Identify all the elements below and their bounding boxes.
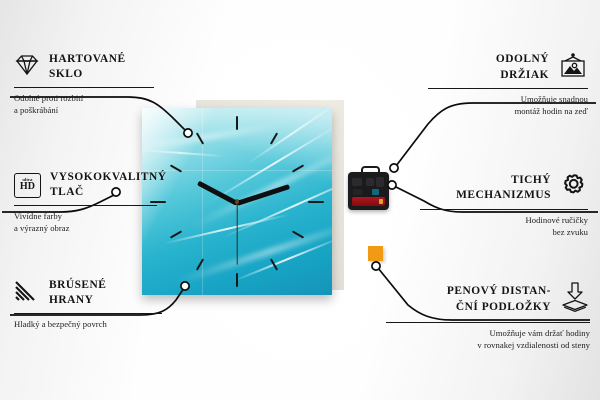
divider [14,205,157,206]
divider [428,88,588,89]
connector-node-beveled-edges [181,282,189,290]
feature-subtitle: Hladký a bezpečný povrch [14,318,162,330]
feature-title: BRÚSENÉ HRANY [49,278,106,308]
feature-title: ODOLNÝ DRŽIAK [496,52,549,82]
divider [14,313,162,314]
feature-title: TICHÝ MECHANIZMUS [456,173,551,203]
beveled-edge-icon [14,279,40,307]
feature-foam-spacers: PENOVÝ DISTAN- ČNÍ PODLOŽKY Umožňuje vám… [386,282,590,351]
feature-subtitle: Umožňuje vám držať hodiny v rovnakej vzd… [386,327,590,351]
feature-beveled-edges: BRÚSENÉ HRANY Hladký a bezpečný povrch [14,278,162,330]
feature-subtitle: Odolné proti rozbití a poškrábání [14,92,154,116]
diamond-icon [14,53,40,82]
picture-hanger-icon [558,52,588,83]
ultra-hd-icon: ultra HD [14,173,41,198]
feature-silent-mechanism: TICHÝ MECHANIZMUS Hodinové ručičky bez z… [420,172,588,238]
press-down-icon [560,282,590,317]
divider [386,322,590,323]
feature-subtitle: Hodinové ručičky bez zvuku [420,214,588,238]
feature-subtitle: Umožňuje snadnou montáž hodin na zeď [428,93,588,117]
feature-hd-print: ultra HD VYSOKOKVALITNÝ TLAČ Vivídne far… [14,170,157,235]
gear-icon [560,172,588,204]
divider [420,209,588,210]
feature-title: PENOVÝ DISTAN- ČNÍ PODLOŽKY [447,284,551,314]
divider [14,87,154,88]
connector-node-hanger [390,164,398,172]
connector-node-hardened-glass [184,129,192,137]
infographic-canvas: HARTOVANÉ SKLO Odolné proti rozbití a po… [0,0,600,400]
connector-node-mechanism [388,181,396,189]
feature-hardened-glass: HARTOVANÉ SKLO Odolné proti rozbití a po… [14,52,154,117]
feature-subtitle: Vivídne farby a výrazný obraz [14,210,157,234]
feature-hanger: ODOLNÝ DRŽIAK Umožňuje snadnou montáž ho… [428,52,588,117]
connector-node-foam-pads [372,262,380,270]
feature-title: HARTOVANÉ SKLO [49,52,126,82]
feature-title: VYSOKOKVALITNÝ TLAČ [50,170,166,200]
